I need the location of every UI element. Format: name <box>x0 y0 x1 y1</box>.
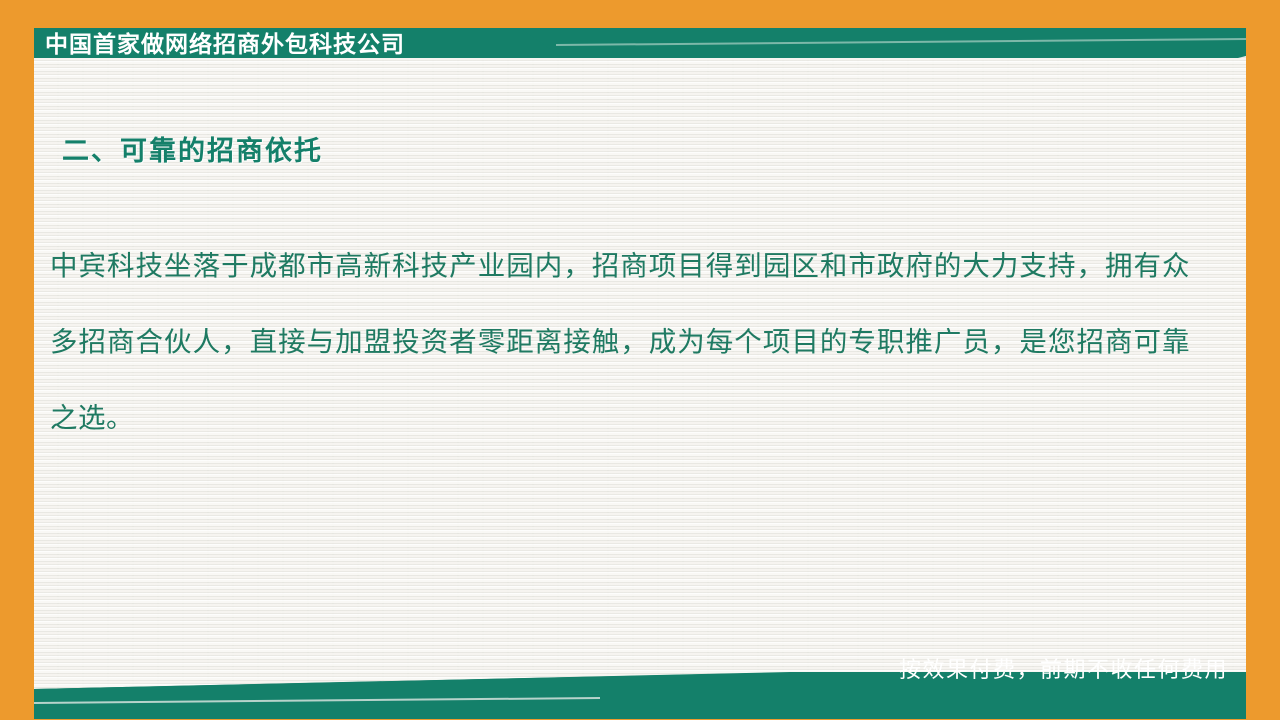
section-heading: 二、可靠的招商依托 <box>62 136 323 168</box>
section-paragraph: 中宾科技坐落于成都市高新科技产业园内，招商项目得到园区和市政府的大力支持，拥有众… <box>50 228 1190 456</box>
footer-tagline: 按效果付费，前期不收任何费用 <box>899 652 1228 684</box>
footer-tagline-wrap: 按效果付费，前期不收任何费用 <box>0 648 1280 688</box>
main-content: 二、可靠的招商依托 中宾科技坐落于成都市高新科技产业园内，招商项目得到园区和市政… <box>0 0 1280 720</box>
slide-root: 中国首家做网络招商外包科技公司 二、可靠的招商依托 中宾科技坐落于成都市高新科技… <box>0 0 1280 720</box>
